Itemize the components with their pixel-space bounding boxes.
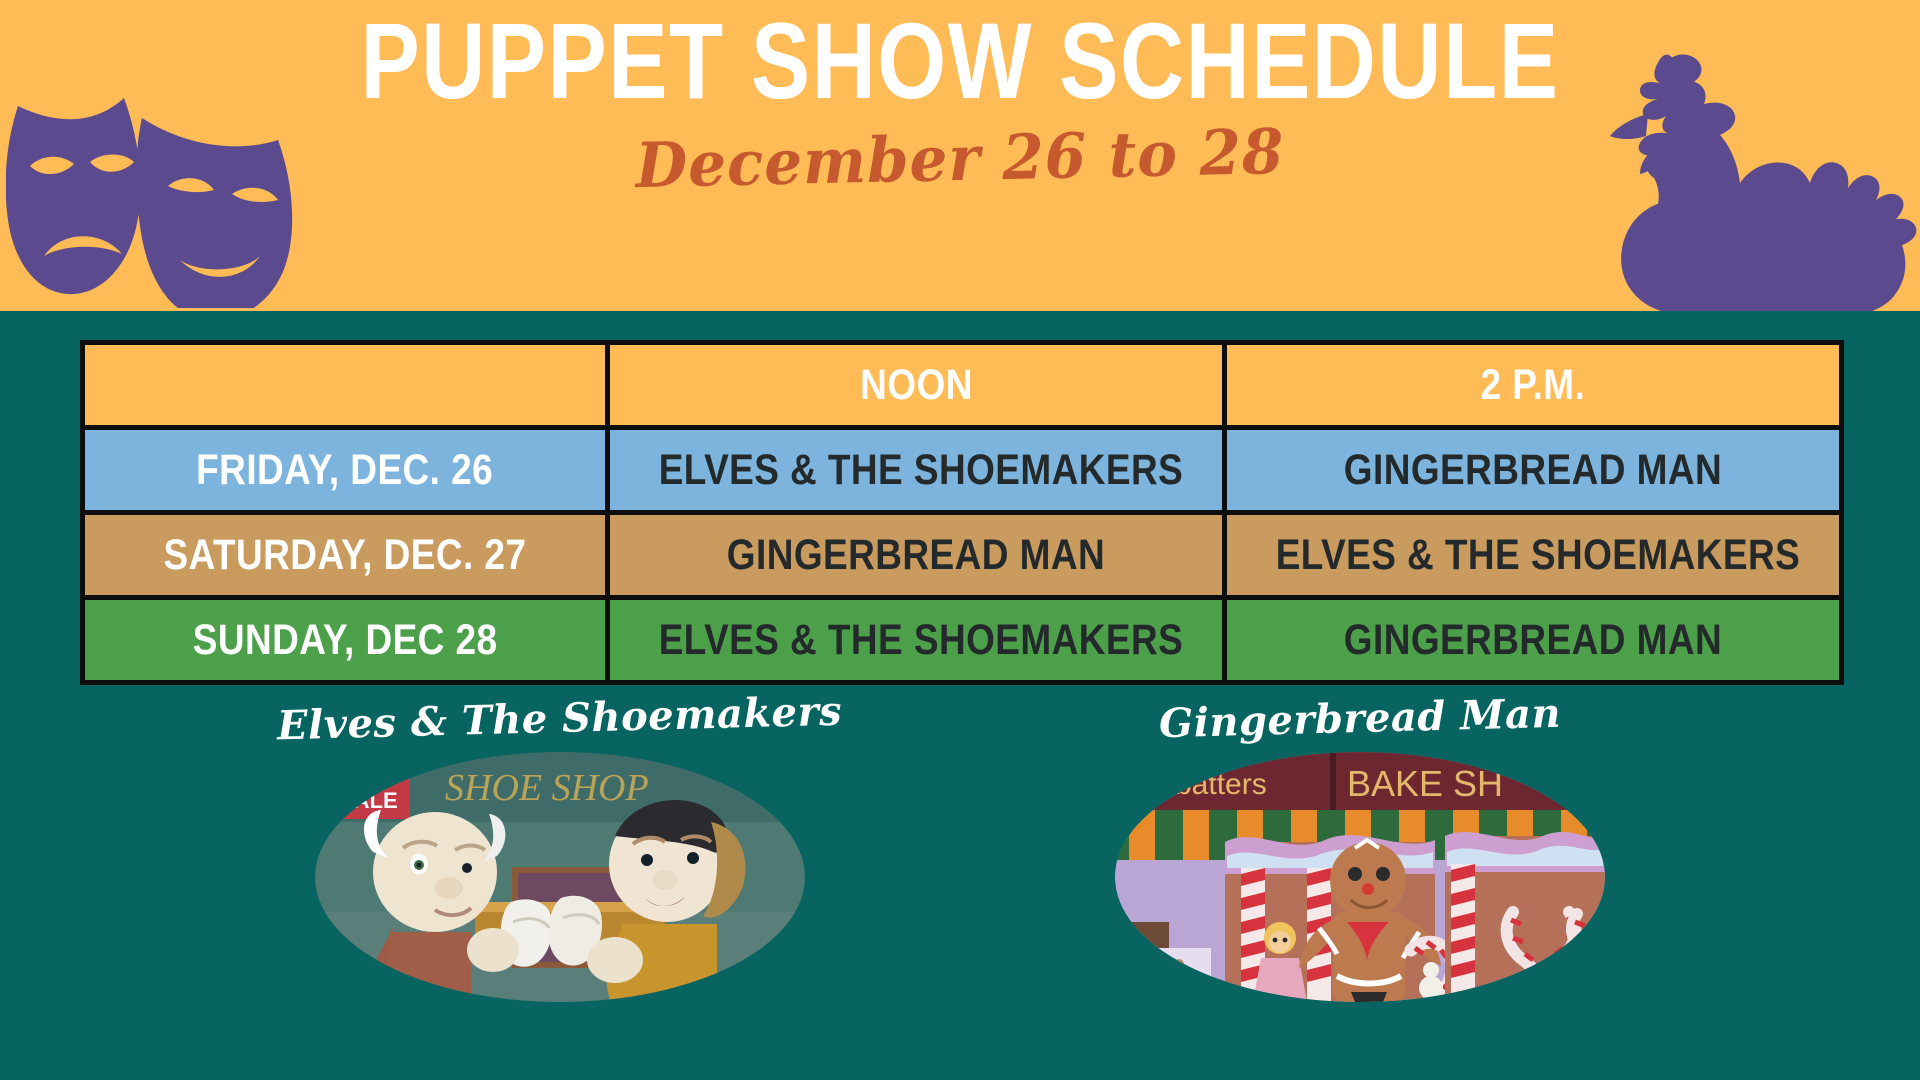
- header-cell-2pm: 2 P.M.: [1225, 343, 1842, 428]
- show-cell-sunday-2pm: GINGERBREAD MAN: [1225, 598, 1842, 683]
- schedule-table: NOON 2 P.M. FRIDAY, DEC. 26 ELVES & THE …: [80, 340, 1844, 685]
- page-title: PUPPET SHOW SCHEDULE: [361, 6, 1560, 116]
- show-caption-gingerbread: Gingerbread Man: [1158, 690, 1561, 748]
- svg-text:SALE: SALE: [339, 788, 398, 813]
- header-cell-blank: [83, 343, 608, 428]
- show-card-elves: Elves & The Shoemakers SALE SHOE SHOP: [310, 695, 810, 1002]
- day-cell-sunday: SUNDAY, DEC 28: [83, 598, 608, 683]
- show-cell-saturday-2pm: ELVES & THE SHOEMAKERS: [1225, 513, 1842, 598]
- header-band: PUPPET SHOW SCHEDULE December 26 to 28: [0, 0, 1920, 311]
- show-cell-friday-noon: ELVES & THE SHOEMAKERS: [608, 428, 1225, 513]
- day-cell-friday: FRIDAY, DEC. 26: [83, 428, 608, 513]
- chicken-icon: [1596, 30, 1920, 311]
- table-row-sunday: SUNDAY, DEC 28 ELVES & THE SHOEMAKERS GI…: [83, 598, 1842, 683]
- date-range-subtitle: December 26 to 28: [635, 115, 1285, 202]
- svg-text:BAKE SH: BAKE SH: [1347, 763, 1503, 804]
- gingerbread-man-photo: batters BAKE SH: [1115, 752, 1605, 1002]
- show-caption-elves: Elves & The Shoemakers: [277, 688, 843, 750]
- show-cell-saturday-noon: GINGERBREAD MAN: [608, 513, 1225, 598]
- table-row-saturday: SATURDAY, DEC. 27 GINGERBREAD MAN ELVES …: [83, 513, 1842, 598]
- show-cell-sunday-noon: ELVES & THE SHOEMAKERS: [608, 598, 1225, 683]
- show-photos-row: Elves & The Shoemakers SALE SHOE SHOP: [0, 695, 1920, 1002]
- show-card-gingerbread: Gingerbread Man batters BAKE SH: [1110, 695, 1610, 1002]
- table-header-row: NOON 2 P.M.: [83, 343, 1842, 428]
- header-cell-noon: NOON: [608, 343, 1225, 428]
- day-cell-saturday: SATURDAY, DEC. 27: [83, 513, 608, 598]
- show-cell-friday-2pm: GINGERBREAD MAN: [1225, 428, 1842, 513]
- svg-text:SHOE SHOP: SHOE SHOP: [445, 767, 649, 809]
- svg-text:batters: batters: [1175, 768, 1267, 801]
- table-row-friday: FRIDAY, DEC. 26 ELVES & THE SHOEMAKERS G…: [83, 428, 1842, 513]
- elves-shoemakers-photo: SALE SHOE SHOP: [315, 752, 805, 1002]
